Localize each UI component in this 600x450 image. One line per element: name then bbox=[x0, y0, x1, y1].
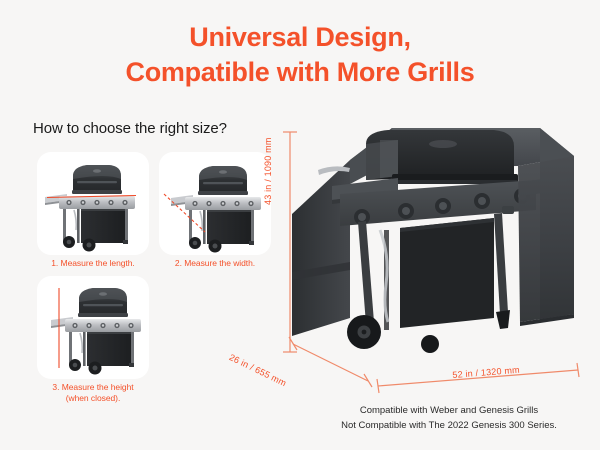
depth-dim-line bbox=[293, 344, 368, 381]
dimension-label-height: 43 in / 1090 mm bbox=[263, 137, 273, 205]
compatibility-note: Compatible with Weber and Genesis Grills… bbox=[300, 404, 598, 433]
compatibility-line-1: Compatible with Weber and Genesis Grills bbox=[300, 404, 598, 419]
depth-dim-cap-end bbox=[364, 374, 372, 387]
infographic-canvas: Universal Design, Compatible with More G… bbox=[0, 0, 600, 450]
compatibility-line-2: Not Compatible with The 2022 Genesis 300… bbox=[300, 419, 598, 434]
dimension-guides bbox=[0, 0, 600, 450]
